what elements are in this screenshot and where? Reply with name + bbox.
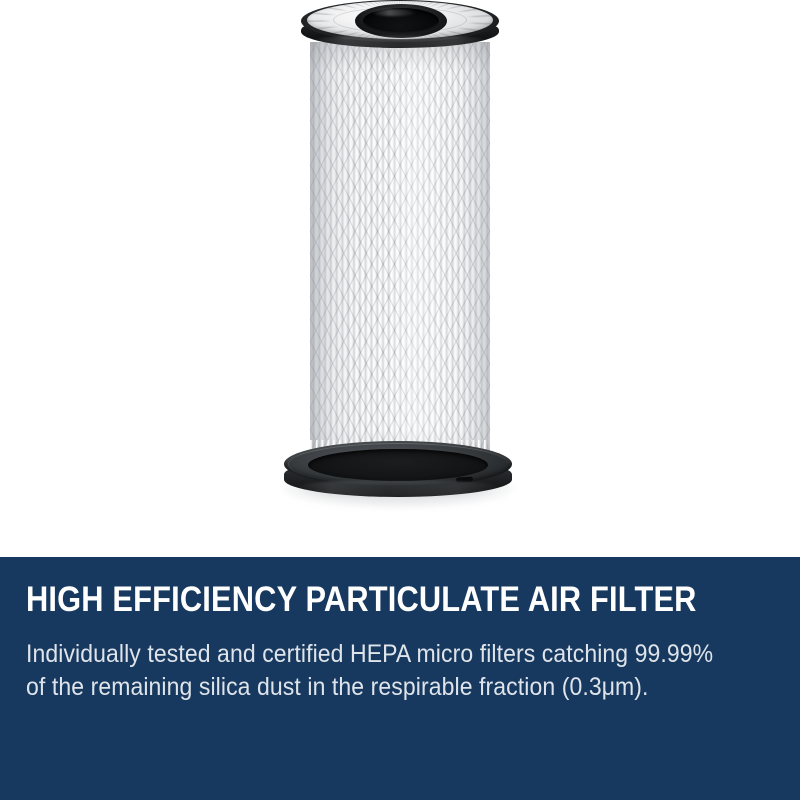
hepa-filter-cartridge-image — [0, 0, 800, 557]
filter-top-cap — [301, 0, 499, 58]
product-feature-card: HIGH EFFICIENCY PARTICULATE AIR FILTER I… — [0, 0, 800, 800]
center-opening-gloss — [371, 9, 417, 16]
top-cap-rim-shine — [309, 36, 491, 50]
cylinder-vertical-falloff — [310, 42, 490, 462]
filter-base-plate — [284, 441, 512, 503]
pleated-filter-media — [310, 42, 490, 462]
product-photo-area — [0, 0, 800, 557]
base-plate-edge-shine — [294, 481, 502, 497]
info-panel: HIGH EFFICIENCY PARTICULATE AIR FILTER I… — [0, 557, 800, 800]
page-title: HIGH EFFICIENCY PARTICULATE AIR FILTER — [26, 581, 684, 619]
panel-description: Individually tested and certified HEPA m… — [26, 638, 714, 704]
